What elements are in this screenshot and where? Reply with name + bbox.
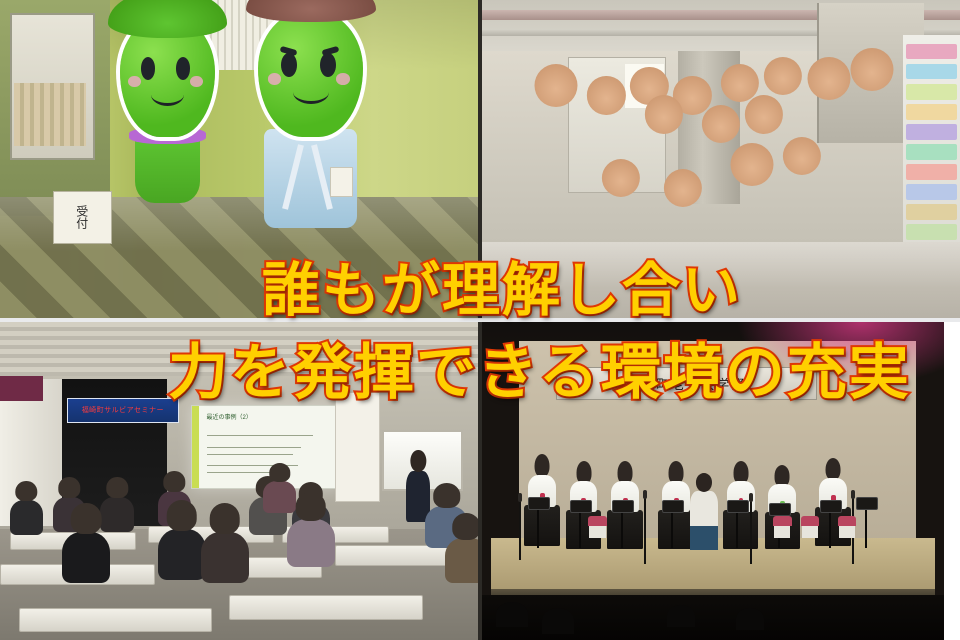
photo-top-left bbox=[0, 0, 478, 318]
stage-banner: 福崎町老人大学祭 bbox=[556, 367, 817, 401]
multicultural-group-photo bbox=[482, 0, 960, 318]
stage-performance-photo: 福崎町老人大学祭 bbox=[482, 322, 944, 640]
photo-bottom-left: 福崎町サルビアセミナー 最近の事例（2） bbox=[0, 322, 478, 640]
lobby-group-photo bbox=[0, 0, 478, 318]
seminar-room-photo: 福崎町サルビアセミナー 最近の事例（2） bbox=[0, 322, 478, 640]
seated-performer bbox=[690, 491, 718, 542]
brochure-rack bbox=[903, 35, 960, 258]
slide-title: 最近の事例（2） bbox=[207, 412, 252, 421]
vertical-poster bbox=[335, 392, 380, 502]
photo-collage: 福崎町サルビアセミナー 最近の事例（2） bbox=[0, 0, 960, 640]
mascot-brown-cap bbox=[258, 10, 363, 137]
right-edge-margin bbox=[944, 322, 960, 640]
reception-sign bbox=[53, 191, 112, 244]
stage-drape bbox=[0, 376, 43, 401]
mascot-orange-cap bbox=[120, 16, 216, 137]
slide-accent-bar bbox=[192, 406, 199, 489]
horizontal-divider bbox=[0, 318, 960, 322]
leaflet-rack bbox=[14, 83, 86, 147]
floor-reflection bbox=[482, 242, 960, 318]
poster-canvas: 福崎町サルビアセミナー 最近の事例（2） bbox=[0, 0, 960, 640]
seminar-banner: 福崎町サルビアセミナー bbox=[67, 398, 179, 422]
photo-bottom-right: 福崎町老人大学祭 bbox=[482, 322, 944, 640]
seminar-ceiling bbox=[0, 322, 478, 376]
photo-top-right bbox=[482, 0, 960, 318]
stage-banner-text: 福崎町老人大学祭 bbox=[626, 374, 746, 393]
seminar-banner-text: 福崎町サルビアセミナー bbox=[82, 405, 164, 415]
